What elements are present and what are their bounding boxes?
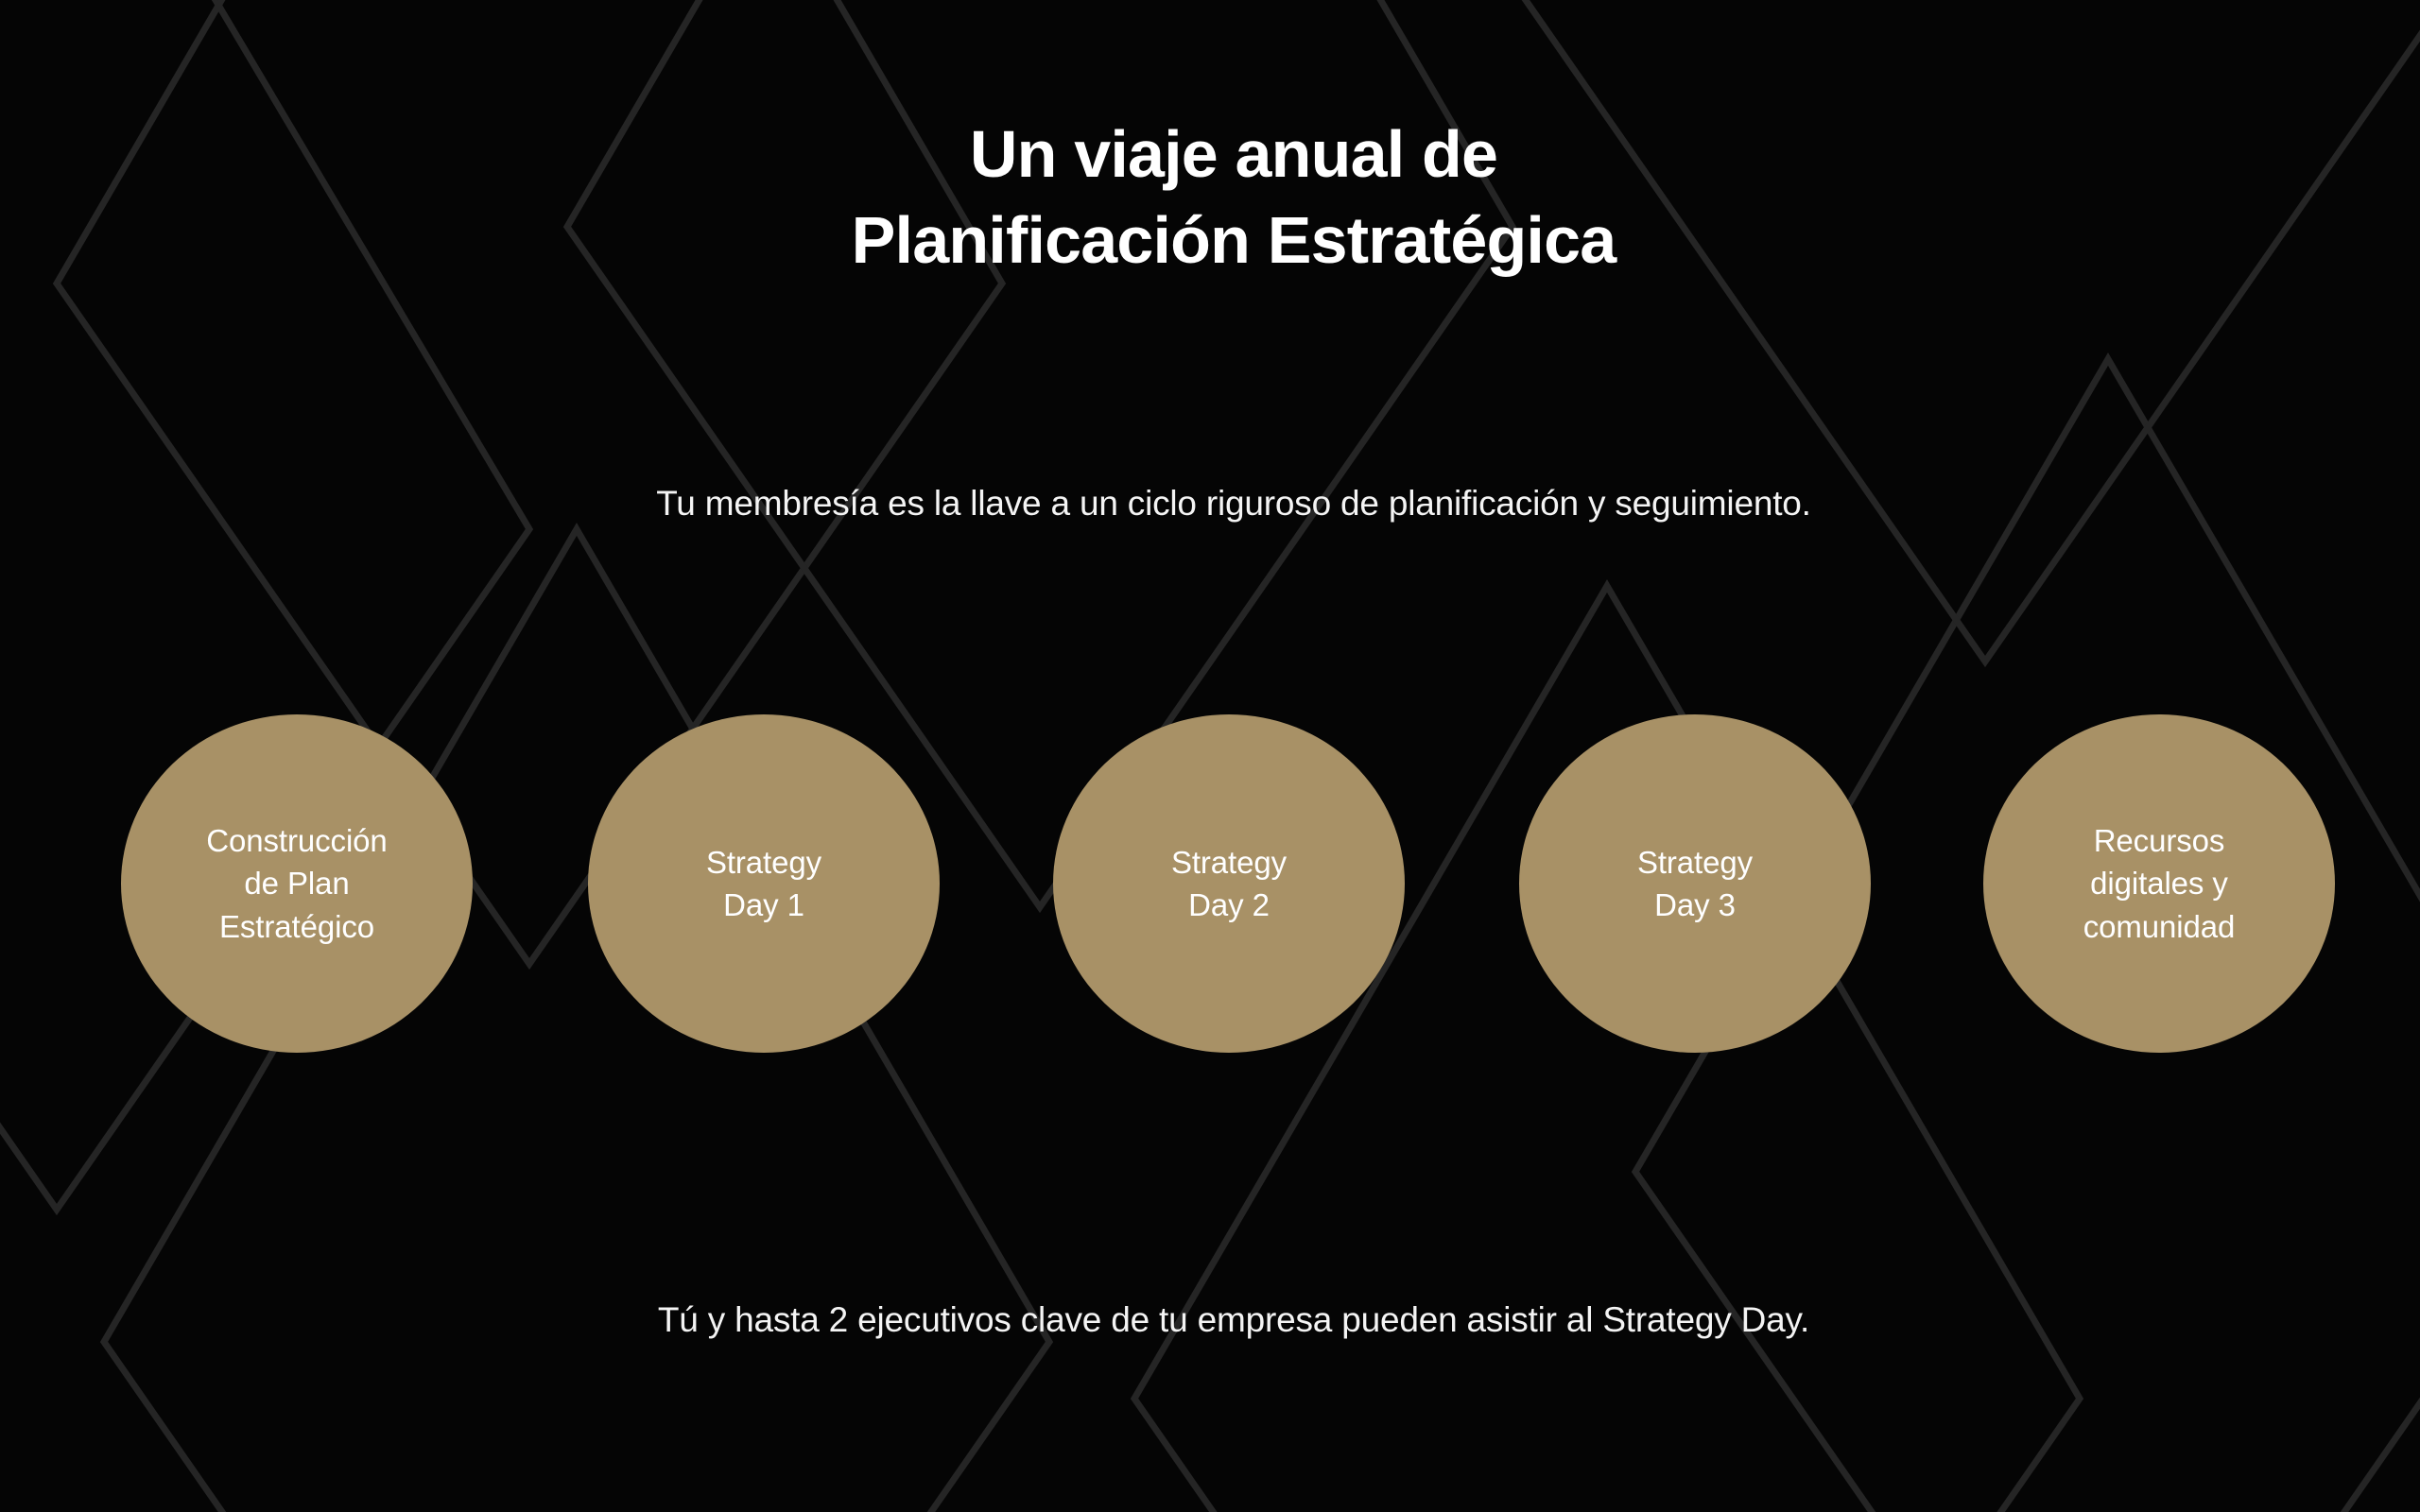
journey-step-label: Strategy Day 3	[1624, 841, 1766, 926]
page-title-line-2: Planificación Estratégica	[0, 198, 2420, 283]
subtitle-text: Tu membresía es la llave a un ciclo rigu…	[0, 480, 2420, 527]
journey-step-strategy-day-2[interactable]: Strategy Day 2	[1053, 714, 1405, 1053]
journey-step-label: Recursos digitales y comunidad	[2070, 819, 2249, 948]
journey-step-strategy-day-3[interactable]: Strategy Day 3	[1519, 714, 1871, 1053]
slide-canvas: Un viaje anual de Planificación Estratég…	[0, 0, 2420, 1512]
journey-step-strategy-day-1[interactable]: Strategy Day 1	[588, 714, 940, 1053]
page-title-line-1: Un viaje anual de	[0, 112, 2420, 198]
journey-step-recursos-digitales-comunidad[interactable]: Recursos digitales y comunidad	[1983, 714, 2335, 1053]
journey-step-label: Construcción de Plan Estratégico	[193, 819, 400, 948]
journey-steps-row: Construcción de Plan Estratégico Strateg…	[0, 714, 2420, 1055]
page-title: Un viaje anual de Planificación Estratég…	[0, 112, 2420, 283]
journey-step-label: Strategy Day 2	[1158, 841, 1300, 926]
footer-note-text: Tú y hasta 2 ejecutivos clave de tu empr…	[0, 1297, 2420, 1344]
journey-step-construccion-plan-estrategico[interactable]: Construcción de Plan Estratégico	[121, 714, 473, 1053]
journey-step-label: Strategy Day 1	[693, 841, 835, 926]
